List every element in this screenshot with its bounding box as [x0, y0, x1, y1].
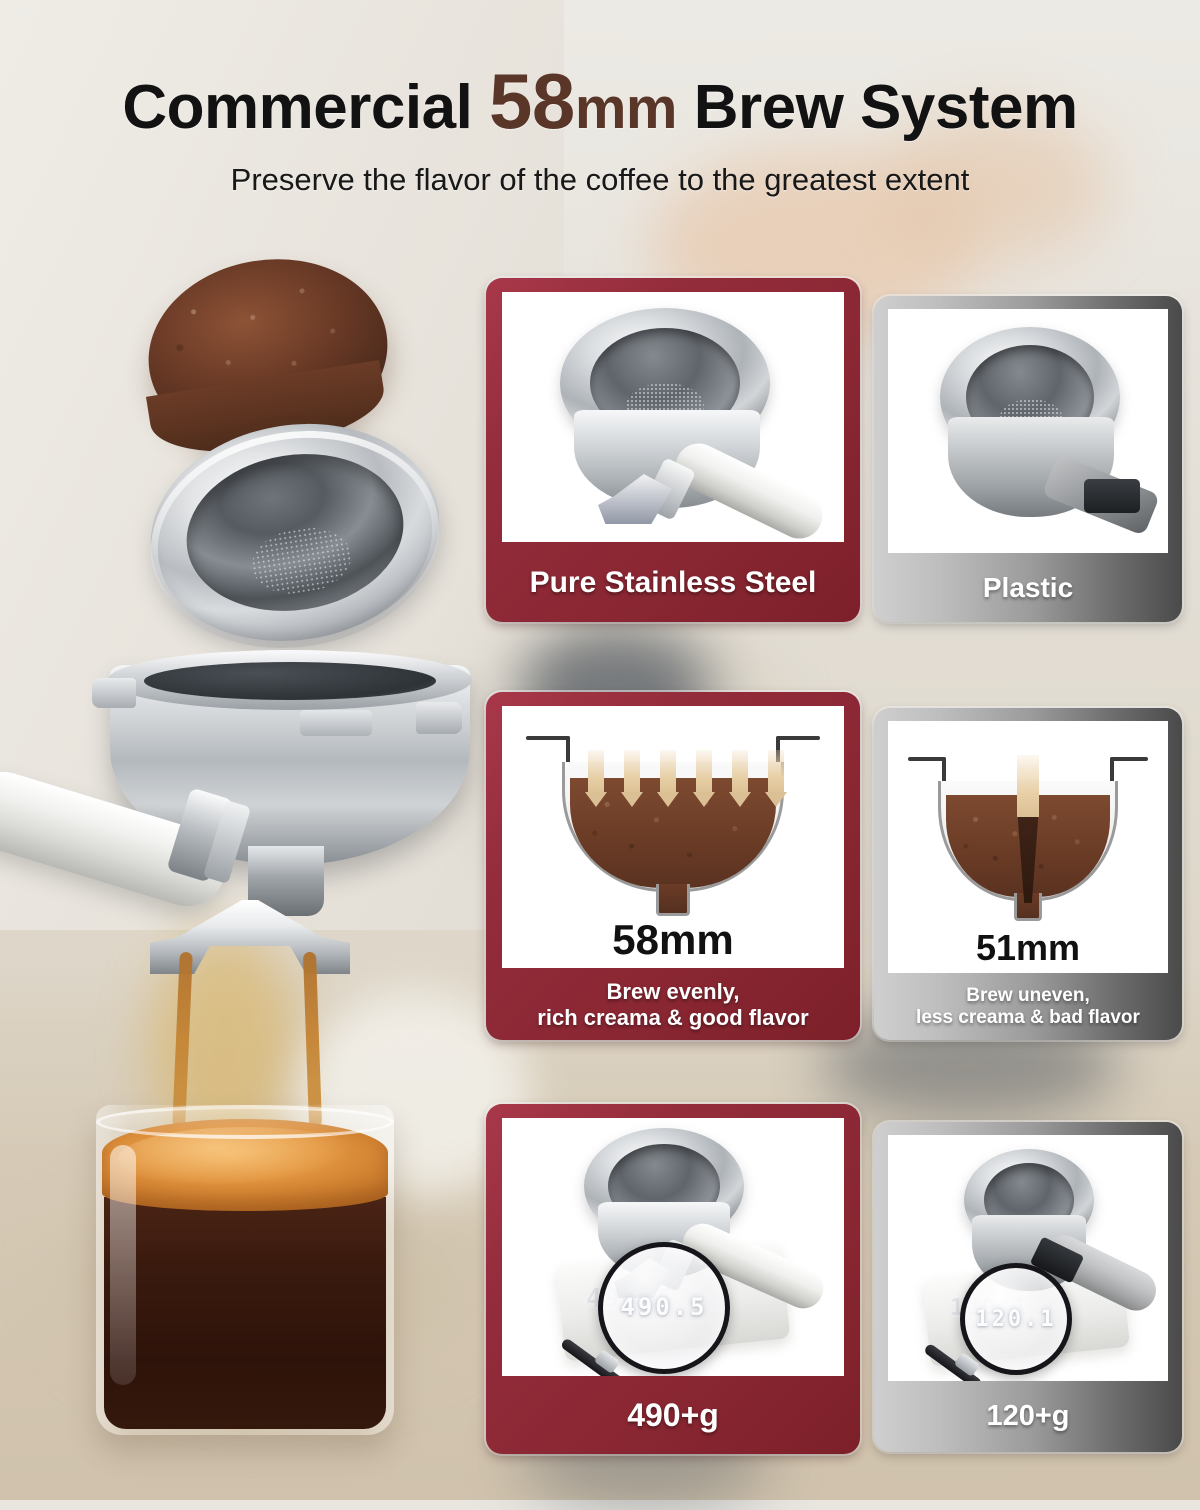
water-flow-arrow-2 [624, 750, 640, 794]
portafilter-top-ring [108, 650, 472, 710]
panel-pure-stainless-steel[interactable]: Pure Stainless Steel [486, 278, 860, 622]
magnifier-lens: 490.5 [598, 1242, 730, 1374]
panel-weight-120g[interactable]: 120.1 120.1 120+g [874, 1122, 1182, 1452]
mini-handle-clip [1084, 479, 1140, 513]
cross-section-diagram-51: 51mm [888, 721, 1168, 973]
water-flow-arrow-1 [588, 750, 604, 794]
panel-caption-stainless: Pure Stainless Steel [486, 544, 860, 622]
water-flow-arrow-6 [768, 750, 784, 794]
title-prefix: Commercial [122, 73, 489, 142]
espresso-liquid [104, 1197, 386, 1429]
size-label-58mm: 58mm [502, 916, 844, 964]
basket-lip-left [526, 736, 570, 740]
espresso-stream-right [303, 952, 322, 1127]
panel-caption-plastic: Plastic [874, 554, 1182, 622]
panel-plastic[interactable]: Plastic [874, 296, 1182, 622]
panel-caption-120g: 120+g [874, 1382, 1182, 1452]
panel-image-stainless-portafilter [502, 292, 844, 542]
magnifier-lens: 120.1 [960, 1263, 1072, 1375]
caption-line-1: Brew evenly, [607, 979, 740, 1005]
page-subtitle: Preserve the flavor of the coffee to the… [0, 162, 1200, 198]
basket-lip-left [908, 757, 946, 761]
panel-image-plastic-portafilter [888, 309, 1168, 553]
size-label-51mm: 51mm [888, 927, 1168, 969]
header-block: Commercial 58mm Brew System Preserve the… [0, 0, 1200, 198]
basket-rim [135, 411, 455, 669]
portafilter-top-cavity [144, 662, 436, 700]
caption-text: Plastic [983, 572, 1073, 604]
basket-lip-right [1110, 757, 1148, 761]
caption-text: 490+g [627, 1397, 719, 1434]
espresso-glass [96, 1105, 394, 1435]
espresso-stream-left [172, 952, 193, 1127]
title-suffix: Brew System [677, 73, 1078, 142]
title-highlight-unit: mm [575, 76, 677, 141]
panel-caption-490g: 490+g [486, 1378, 860, 1454]
panel-caption-51mm: Brew uneven, less creama & bad flavor [874, 974, 1182, 1040]
panel-51mm-uneven-brew[interactable]: 51mm Brew uneven, less creama & bad flav… [874, 708, 1182, 1040]
panel-weight-490g[interactable]: 490.5 490.5 490+g [486, 1104, 860, 1454]
cross-section-diagram-58: 58mm [502, 706, 844, 968]
panel-image-51mm-cross-section: 51mm [888, 721, 1168, 973]
title-highlight: 58mm [489, 73, 677, 142]
caption-line-1: Brew uneven, [966, 985, 1090, 1007]
product-photo [0, 210, 500, 1500]
caption-line-2: rich creama & good flavor [537, 1005, 808, 1031]
caption-text: 120+g [986, 1400, 1069, 1434]
caption-line-2: less creama & bad flavor [916, 1007, 1140, 1029]
basket-outlet [656, 884, 690, 916]
water-flow-arrow-4 [696, 750, 712, 794]
panel-image-heavy-portafilter-scale: 490.5 490.5 [502, 1118, 844, 1376]
portafilter-lug-left [92, 678, 136, 708]
panel-image-58mm-cross-section: 58mm [502, 706, 844, 968]
magnified-scale-reading: 120.1 [965, 1307, 1067, 1332]
page-title: Commercial 58mm Brew System [0, 62, 1200, 140]
title-highlight-number: 58 [489, 57, 575, 145]
water-flow-arrow-5 [732, 750, 748, 794]
panel-caption-58mm: Brew evenly, rich creama & good flavor [486, 970, 860, 1040]
basket-lip-right [776, 736, 820, 740]
panel-image-light-portafilter-scale: 120.1 120.1 [888, 1135, 1168, 1381]
portafilter-lug-right [416, 702, 462, 734]
glass-rim [96, 1105, 394, 1139]
panel-58mm-even-brew[interactable]: 58mm Brew evenly, rich creama & good fla… [486, 692, 860, 1040]
magnified-scale-reading: 490.5 [603, 1293, 725, 1321]
water-flow-arrow-center [1017, 755, 1039, 817]
portafilter-tab [300, 710, 372, 736]
glass-highlight [110, 1145, 136, 1385]
water-flow-arrow-3 [660, 750, 676, 794]
caption-text: Pure Stainless Steel [530, 566, 817, 601]
